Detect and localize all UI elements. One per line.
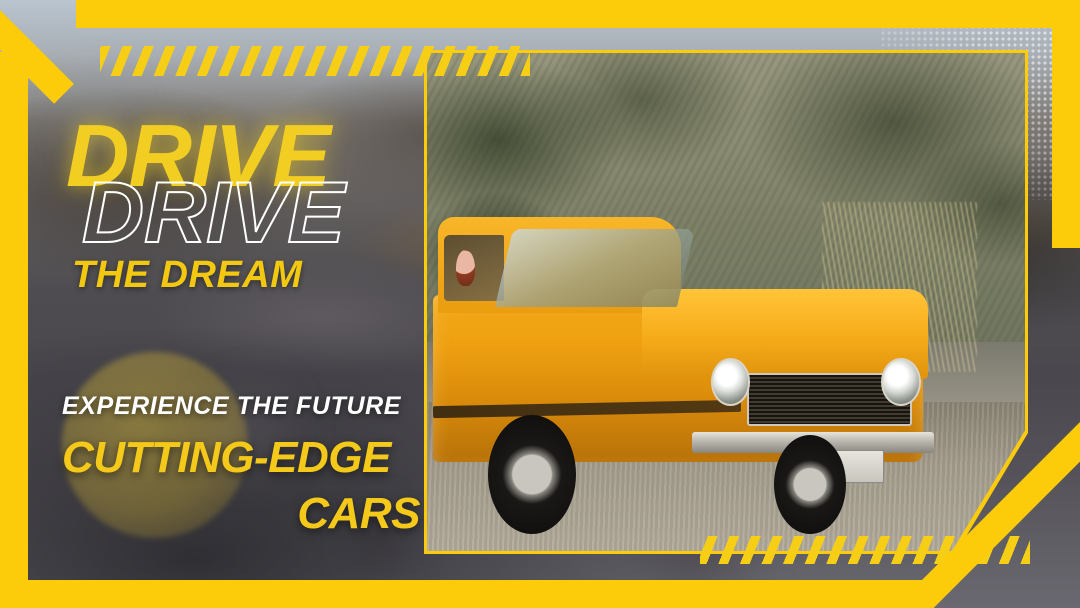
banner-stage: DRIVE DRIVE THE DREAM EXPERIENCE THE FUT… (0, 0, 1080, 608)
wheel-rear (774, 435, 846, 534)
headlight-right (881, 358, 921, 406)
car-windshield (496, 229, 695, 307)
driver-figure (456, 250, 475, 286)
car-photo (427, 53, 1025, 551)
headline-the-dream: THE DREAM (72, 254, 302, 297)
subheadline-group: EXPERIENCE THE FUTURE CUTTING-EDGE CARS (62, 392, 426, 539)
headline-drive-outline: DRIVE (82, 170, 345, 256)
feature-cars: CARS (62, 489, 426, 539)
kicker-experience-the-future: EXPERIENCE THE FUTURE (62, 392, 426, 421)
feature-cutting-edge: CUTTING-EDGE (62, 433, 426, 483)
car-photo-frame (424, 50, 1028, 554)
car-illustration (433, 217, 983, 516)
wheel-front (488, 415, 576, 535)
headlight-left (711, 358, 751, 406)
